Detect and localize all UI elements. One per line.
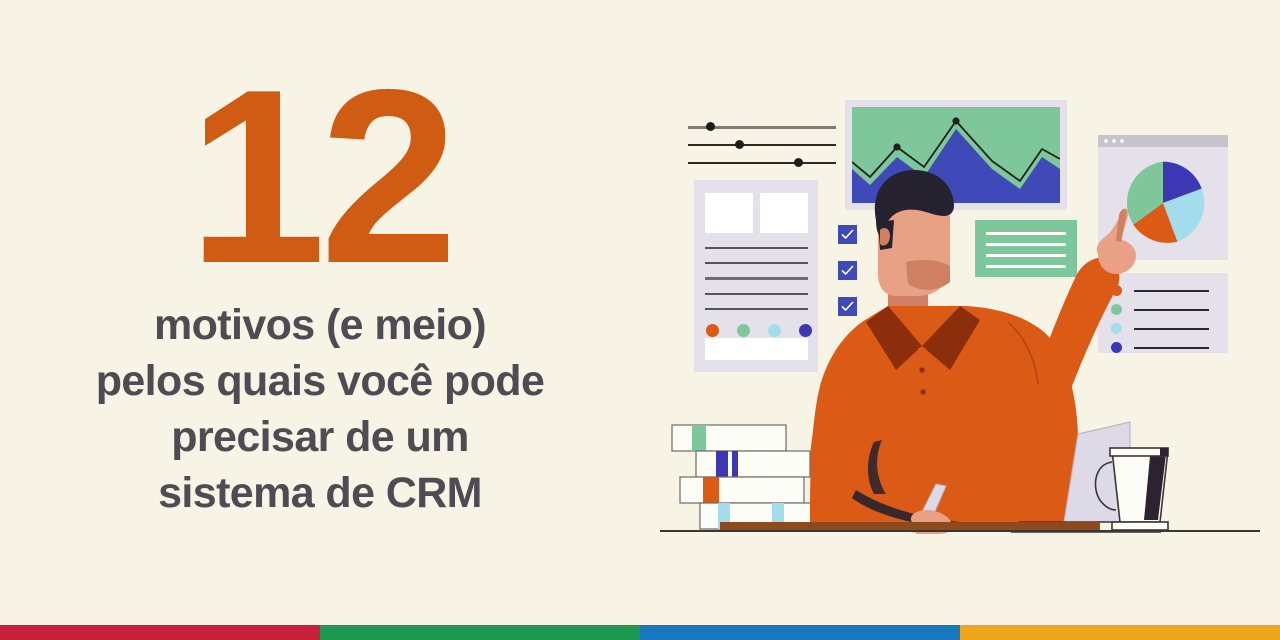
shirt-button (919, 367, 924, 372)
person-scene (660, 70, 1260, 540)
headline-line-2: pelos quais você pode (0, 354, 640, 410)
color-bar-segment-red (0, 625, 320, 640)
color-bar-segment-blue (640, 625, 960, 640)
shirt-button (920, 389, 925, 394)
hero-illustration (660, 70, 1260, 540)
headline-line-1: motivos (e meio) (0, 298, 640, 354)
brand-color-bar (0, 625, 1280, 640)
color-bar-segment-yellow (960, 625, 1280, 640)
mug-saucer (1112, 522, 1168, 530)
book-stack (672, 425, 830, 529)
page-title-number: 12 (0, 52, 640, 300)
headline-line-3: precisar de um (0, 410, 640, 466)
poster-canvas: 12 motivos (e meio) pelos quais você pod… (0, 0, 1280, 640)
person-pointing-arm (1038, 209, 1136, 398)
color-bar-segment-green (320, 625, 640, 640)
headline-block: 12 motivos (e meio) pelos quais você pod… (0, 0, 640, 610)
desk (660, 522, 1260, 532)
person-head (875, 170, 954, 326)
page-title-subtext: motivos (e meio) pelos quais você pode p… (0, 298, 640, 522)
headline-line-4: sistema de CRM (0, 466, 640, 522)
